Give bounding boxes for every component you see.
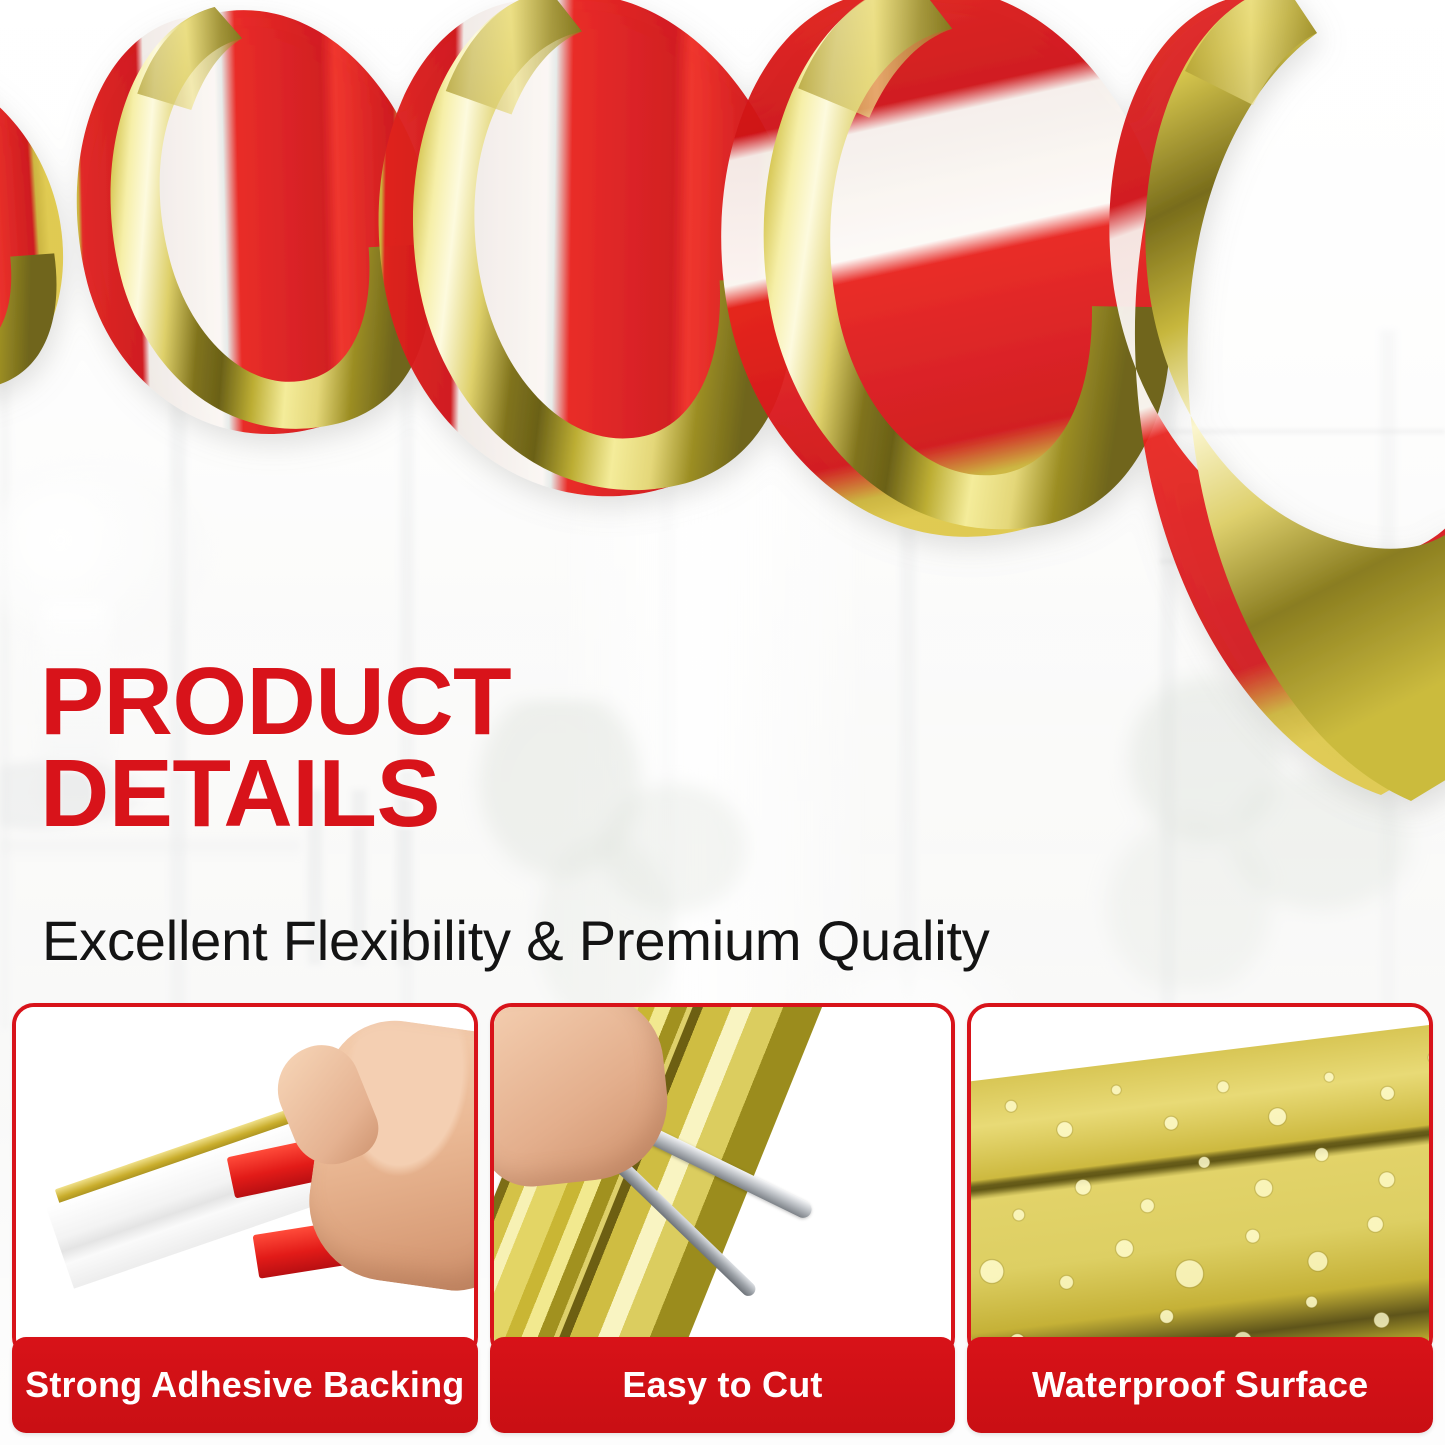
art-waterproof-surface bbox=[971, 1007, 1429, 1355]
headline-line-1: PRODUCT bbox=[40, 648, 511, 755]
feature-card-cut: Easy to Cut bbox=[490, 1003, 956, 1433]
page-subtitle: Excellent Flexibility & Premium Quality bbox=[42, 908, 990, 973]
water-droplets bbox=[971, 1020, 1429, 1355]
feature-card-row: Strong Adhesive Backing Easy to Cut bbox=[12, 1003, 1433, 1433]
feature-label-cut: Easy to Cut bbox=[490, 1337, 956, 1433]
product-details-poster: PRODUCT DETAILS Excellent Flexibility & … bbox=[0, 0, 1445, 1445]
feature-label-waterproof: Waterproof Surface bbox=[967, 1337, 1433, 1433]
coil-loop-1 bbox=[0, 33, 82, 416]
headline-line-2: DETAILS bbox=[40, 748, 511, 840]
feature-card-image-frame bbox=[490, 1003, 956, 1359]
art-strong-adhesive-backing bbox=[16, 1007, 474, 1355]
feature-card-image-frame bbox=[967, 1003, 1433, 1359]
feature-card-adhesive: Strong Adhesive Backing bbox=[12, 1003, 478, 1433]
art-easy-to-cut bbox=[494, 1007, 952, 1355]
page-title: PRODUCT DETAILS bbox=[40, 656, 511, 840]
feature-card-waterproof: Waterproof Surface bbox=[967, 1003, 1433, 1433]
feature-label-adhesive: Strong Adhesive Backing bbox=[12, 1337, 478, 1433]
feature-card-image-frame bbox=[12, 1003, 478, 1359]
